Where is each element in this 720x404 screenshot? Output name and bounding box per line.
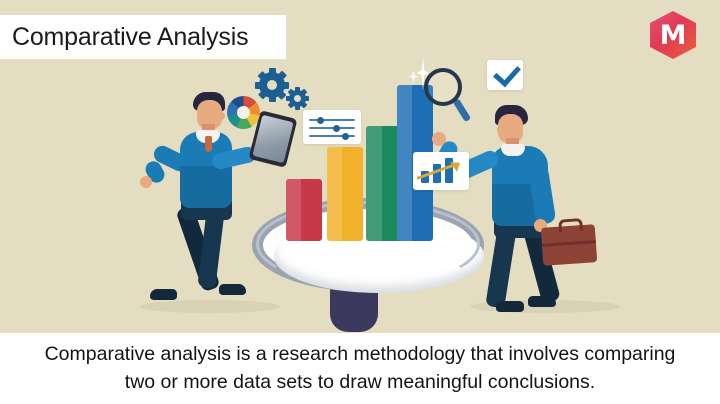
- donut-hole: [237, 106, 250, 119]
- chart-bar-2: [327, 147, 363, 241]
- left-ear: [218, 112, 225, 120]
- donut-chart-icon: [227, 96, 260, 129]
- slider-track: [309, 135, 355, 137]
- growth-arrow-icon: [417, 161, 465, 181]
- sliders-card: [303, 110, 361, 144]
- tablet-screen: [252, 115, 293, 163]
- screenshot-root: Comparative Analysis M Comparative analy…: [0, 0, 720, 404]
- small-magnifier-icon: [424, 68, 474, 128]
- growth-chart-card: [413, 152, 469, 190]
- illustration-panel: Comparative Analysis M: [0, 0, 720, 333]
- slider-knob: [317, 117, 324, 124]
- gear-hole: [267, 80, 277, 90]
- bar-gloss: [366, 126, 382, 241]
- slider-track: [309, 119, 355, 121]
- left-torso-shade: [180, 166, 232, 208]
- briefcase: [541, 224, 598, 266]
- gear-large-icon: [259, 72, 285, 98]
- caption-line-1: Comparative analysis is a research metho…: [45, 341, 676, 369]
- person-right: [470, 92, 620, 317]
- right-shoe-front: [496, 301, 524, 312]
- small-magnifier-handle: [453, 98, 472, 122]
- right-ear: [497, 126, 504, 134]
- sparkle-small: [408, 70, 419, 83]
- title-banner: Comparative Analysis: [0, 15, 286, 59]
- bar-gloss: [397, 85, 412, 241]
- small-magnifier-ring: [424, 68, 462, 106]
- slider-knob: [342, 133, 349, 140]
- right-collar: [501, 144, 525, 156]
- bar-gloss: [327, 147, 342, 241]
- checkmark-card: [487, 60, 523, 90]
- marketing91-logo[interactable]: M: [650, 11, 696, 59]
- slider-knob: [333, 125, 340, 132]
- check-icon: [493, 59, 521, 88]
- caption-line-2: two or more data sets to draw meaningful…: [125, 369, 595, 397]
- right-hand-up: [432, 132, 446, 146]
- briefcase-seam: [542, 240, 596, 247]
- logo-letter: M: [650, 11, 696, 59]
- page-title: Comparative Analysis: [0, 23, 248, 52]
- caption-block: Comparative analysis is a research metho…: [0, 333, 720, 404]
- gear-small-icon: [289, 90, 306, 107]
- slider-track: [309, 127, 355, 129]
- briefcase-handle: [558, 218, 583, 233]
- right-shoe-back: [528, 296, 556, 307]
- gear-hole: [294, 95, 301, 102]
- left-shoe-back: [150, 289, 177, 300]
- left-tie: [205, 136, 212, 152]
- left-shoe-front: [219, 284, 246, 295]
- left-hand-back: [140, 176, 152, 188]
- logo-hexagon: M: [650, 11, 696, 59]
